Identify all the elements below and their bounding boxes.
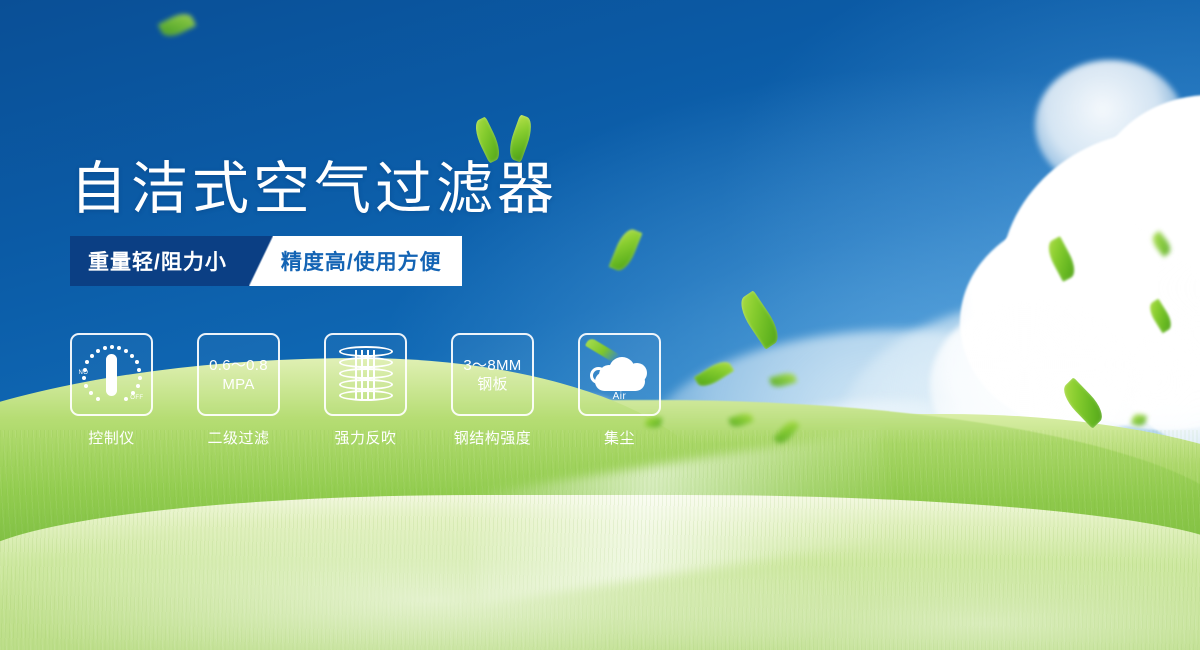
banner-content: 自洁式空气过滤器 重量轻/阻力小 精度高/使用方便 <box>0 0 1200 650</box>
feature-label: 二级过滤 <box>207 427 269 448</box>
pressure-value-line2: MPA <box>222 375 254 394</box>
product-banner: 自洁式空气过滤器 重量轻/阻力小 精度高/使用方便 <box>0 0 1200 650</box>
dust-particle-icon <box>590 367 607 384</box>
steel-value-line1: 3～8MM <box>463 356 521 375</box>
tagline-primary: 重量轻/阻力小 <box>70 236 249 286</box>
control-dial-icon: NO OFF <box>79 342 145 408</box>
feature-icon-box <box>324 333 407 416</box>
feature-label: 钢结构强度 <box>454 427 532 448</box>
page-title: 自洁式空气过滤器 <box>70 143 558 225</box>
feature-label: 集尘 <box>604 427 635 448</box>
feature-label: 控制仪 <box>88 427 135 448</box>
pressure-value-line1: 0.6～0.8 <box>209 356 268 375</box>
feature-icon-box: Air <box>578 333 661 416</box>
dial-label-off: OFF <box>130 395 143 401</box>
tagline-secondary: 精度高/使用方便 <box>273 236 462 286</box>
feature-icon-box: 0.6～0.8 MPA <box>197 333 280 416</box>
coil-filter-icon <box>339 346 393 404</box>
feature-icon-box: NO OFF <box>70 333 153 416</box>
dial-needle <box>106 354 117 396</box>
feature-item-backblow: 强力反吹 <box>324 333 407 448</box>
feature-item-pressure: 0.6～0.8 MPA 二级过滤 <box>197 333 280 448</box>
feature-label: 强力反吹 <box>334 427 396 448</box>
air-cloud-icon: Air <box>589 351 651 399</box>
feature-item-control: NO OFF 控制仪 <box>70 333 153 448</box>
air-label: Air <box>589 391 651 402</box>
feature-list: NO OFF 控制仪 0.6～0.8 MPA 二级过滤 <box>70 333 661 448</box>
steel-value-line2: 钢板 <box>477 375 508 394</box>
feature-item-steel: 3～8MM 钢板 钢结构强度 <box>451 333 534 448</box>
dial-label-no: NO <box>79 370 89 376</box>
feature-item-dust: Air 集尘 <box>578 333 661 448</box>
tagline-divider <box>249 236 273 286</box>
tagline-badge: 重量轻/阻力小 精度高/使用方便 <box>70 236 462 286</box>
feature-icon-box: 3～8MM 钢板 <box>451 333 534 416</box>
